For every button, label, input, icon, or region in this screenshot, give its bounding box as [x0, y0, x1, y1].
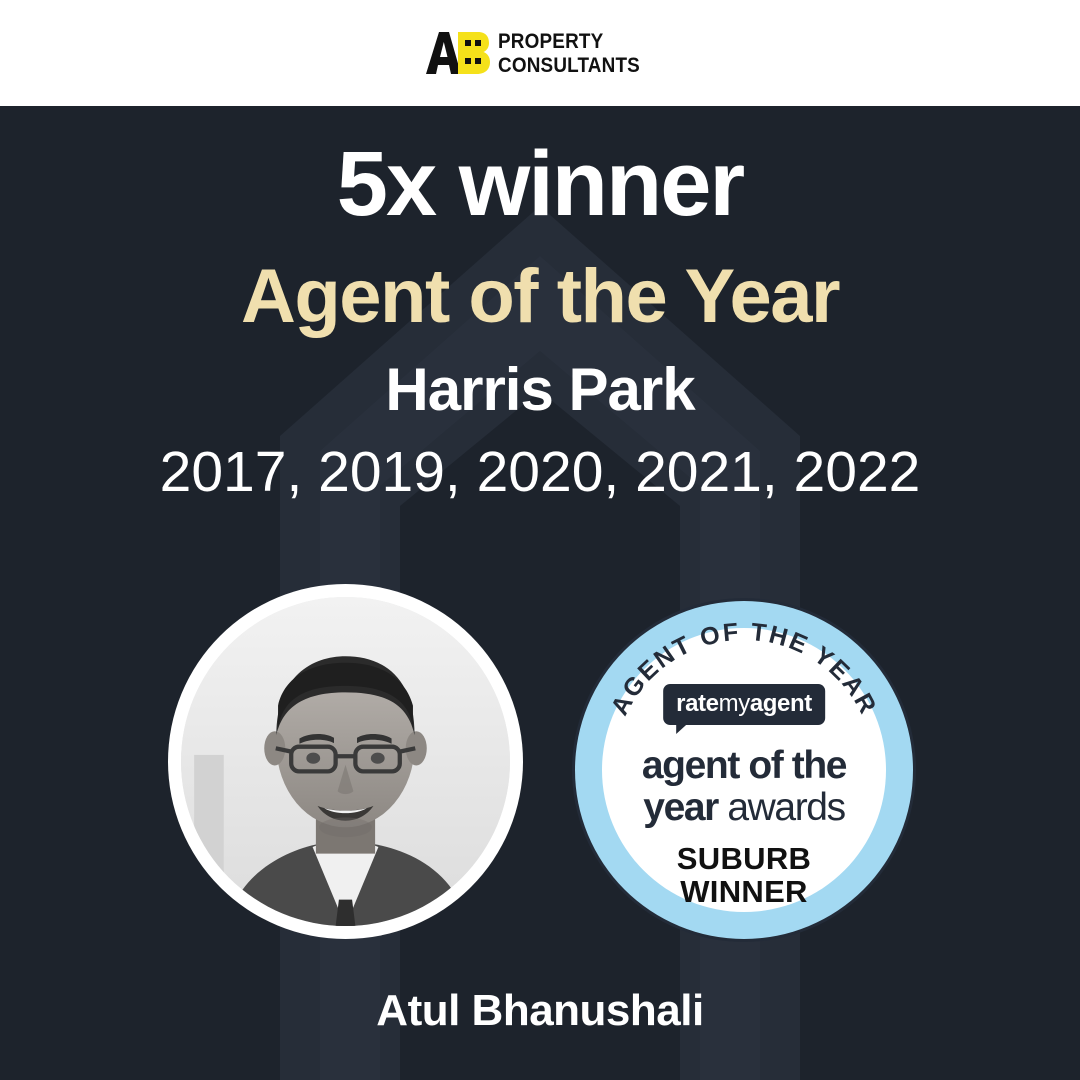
ratemyagent-wordmark: ratemyagent: [676, 690, 812, 717]
agent-photo-clip: [181, 597, 510, 926]
brand-line-property: PROPERTY: [498, 31, 640, 52]
rate-my-agent-award-badge: AGENT OF THE YEAR ratemyagent agent of t…: [570, 596, 918, 944]
badge-title-year: year: [643, 786, 727, 829]
promo-card: PROPERTY CONSULTANTS 5x winner Agent of …: [0, 0, 1080, 1080]
badge-inner-content: ratemyagent agent of the year awards SUB…: [570, 596, 918, 944]
agent-name: Atul Bhanushali: [0, 986, 1080, 1036]
hero-text-stack: 5x winner Agent of the Year Harris Park …: [0, 136, 1080, 503]
agent-portrait-photo: [181, 597, 510, 926]
brand-wordmark: PROPERTY CONSULTANTS: [498, 31, 656, 76]
suburb-heading: Harris Park: [0, 358, 1080, 421]
ratemyagent-logo: ratemyagent: [663, 684, 825, 725]
rma-my: my: [719, 690, 750, 717]
rma-agent: agent: [750, 690, 812, 717]
brand-line-consultants: CONSULTANTS: [498, 55, 640, 76]
badge-award-title: agent of the year awards: [570, 746, 918, 827]
award-title-heading: Agent of the Year: [0, 257, 1080, 337]
badge-title-awards: awards: [727, 786, 844, 829]
ab-property-consultants-logo: PROPERTY CONSULTANTS: [425, 28, 656, 78]
agent-avatar: [168, 584, 523, 939]
badge-title-line1: agent of the: [570, 746, 918, 785]
media-row: AGENT OF THE YEAR ratemyagent agent of t…: [0, 584, 1080, 954]
badge-winner-line2: WINNER: [570, 875, 918, 908]
badge-winner-label: SUBURB WINNER: [570, 842, 918, 909]
rma-rate: rate: [676, 690, 718, 717]
header-band: PROPERTY CONSULTANTS: [0, 0, 1080, 106]
body-area: 5x winner Agent of the Year Harris Park …: [0, 106, 1080, 1080]
badge-winner-line1: SUBURB: [570, 842, 918, 875]
ab-monogram-icon: [425, 28, 491, 78]
winner-count-heading: 5x winner: [0, 136, 1080, 233]
badge-title-line2: year awards: [570, 788, 918, 827]
years-list: 2017, 2019, 2020, 2021, 2022: [0, 443, 1080, 503]
